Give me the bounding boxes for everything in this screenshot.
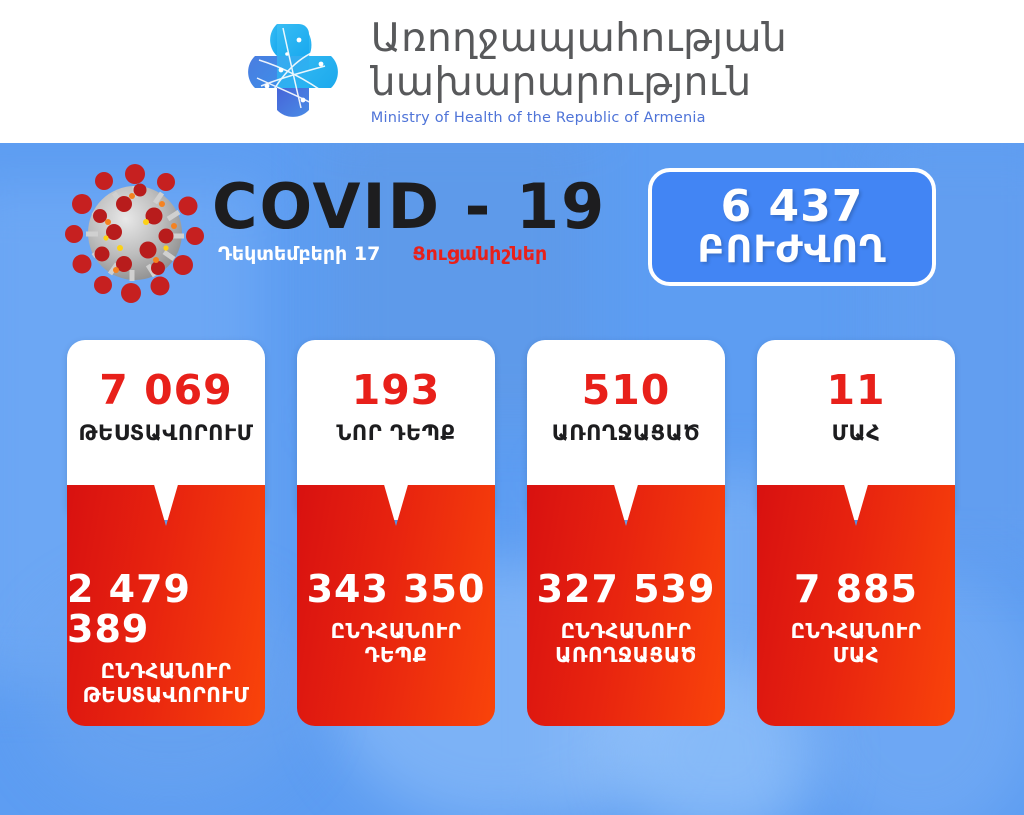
daily-value: 193 [352,368,441,412]
card-total-panel: 327 539 ԸՆԴՀԱՆՈՒՐ ԱՌՈՂՋԱՑԱԾ [527,485,725,726]
total-label-line2: ԴԵՊՔ [365,643,428,667]
stat-card-new-cases[interactable]: 193 ՆՈՐ ԴԵՊՔ 343 350 ԸՆԴՀԱՆՈՒՐ ԴԵՊՔ [297,340,495,726]
header-bar: Առողջապահության նախարարություն Ministry … [0,0,1024,143]
total-value: 343 350 [307,569,486,609]
ministry-name-line2: նախարարություն [371,61,787,105]
ministry-name-block: Առողջապահության նախարարություն Ministry … [371,17,787,127]
treated-badge[interactable]: 6 437 ԲՈՒԺՎՈՂ [648,168,936,286]
total-label-line1: ԸՆԴՀԱՆՈՒՐ [101,659,232,683]
treated-label: ԲՈՒԺՎՈՂ [697,230,886,270]
total-label: ԸՆԴՀԱՆՈՒՐ ԹԵՍՏԱՎՈՐՈՒՄ [83,659,250,707]
ministry-name-english: Ministry of Health of the Republic of Ar… [371,109,787,127]
stat-card-testing[interactable]: 7 069 ԹԵՍՏԱՎՈՐՈՒՄ 2 479 389 ԸՆԴՀԱՆՈՒՐ ԹԵ… [67,340,265,726]
daily-label: ԱՌՈՂՋԱՑԱԾ [552,421,701,445]
report-subtitle: Ցուցանիշներ [412,243,547,265]
subtitle-row: Դեկտեմբերի 17 Ցուցանիշներ [218,243,547,265]
total-value: 7 885 [794,569,918,609]
card-total-panel: 2 479 389 ԸՆԴՀԱՆՈՒՐ ԹԵՍՏԱՎՈՐՈՒՄ [67,485,265,726]
daily-label: ԹԵՍՏԱՎՈՐՈՒՄ [79,421,254,445]
ministry-logo [237,16,349,128]
total-label-line1: ԸՆԴՀԱՆՈՒՐ [791,619,922,643]
total-label: ԸՆԴՀԱՆՈՒՐ ԱՌՈՂՋԱՑԱԾ [555,619,697,667]
total-label-line2: ԹԵՍՏԱՎՈՐՈՒՄ [83,683,250,707]
daily-label: ՆՈՐ ԴԵՊՔ [336,421,455,445]
treated-value: 6 437 [721,184,864,230]
total-value: 327 539 [537,569,716,609]
daily-value: 7 069 [99,368,232,412]
total-label-line2: ՄԱՀ [833,643,879,667]
total-label-line1: ԸՆԴՀԱՆՈՒՐ [561,619,692,643]
page-title: COVID - 19 [212,170,606,243]
total-label: ԸՆԴՀԱՆՈՒՐ ԴԵՊՔ [331,619,462,667]
daily-value: 11 [826,368,885,412]
total-label-line1: ԸՆԴՀԱՆՈՒՐ [331,619,462,643]
ministry-name-line1: Առողջապահության [371,17,787,61]
daily-value: 510 [582,368,671,412]
card-total-panel: 7 885 ԸՆԴՀԱՆՈՒՐ ՄԱՀ [757,485,955,726]
health-cross-network-logo-icon [237,16,349,128]
total-label-line2: ԱՌՈՂՋԱՑԱԾ [555,643,697,667]
infographic-page: Առողջապահության նախարարություն Ministry … [0,0,1024,815]
daily-label: ՄԱՀ [832,421,881,445]
coronavirus-particle-icon [62,160,208,306]
total-value: 2 479 389 [67,569,265,649]
stat-card-deaths[interactable]: 11 ՄԱՀ 7 885 ԸՆԴՀԱՆՈՒՐ ՄԱՀ [757,340,955,726]
stat-cards: 7 069 ԹԵՍՏԱՎՈՐՈՒՄ 2 479 389 ԸՆԴՀԱՆՈՒՐ ԹԵ… [0,340,1024,730]
stat-card-recovered[interactable]: 510 ԱՌՈՂՋԱՑԱԾ 327 539 ԸՆԴՀԱՆՈՒՐ ԱՌՈՂՋԱՑԱ… [527,340,725,726]
report-date: Դեկտեմբերի 17 [218,243,380,265]
card-total-panel: 343 350 ԸՆԴՀԱՆՈՒՐ ԴԵՊՔ [297,485,495,726]
total-label: ԸՆԴՀԱՆՈՒՐ ՄԱՀ [791,619,922,667]
